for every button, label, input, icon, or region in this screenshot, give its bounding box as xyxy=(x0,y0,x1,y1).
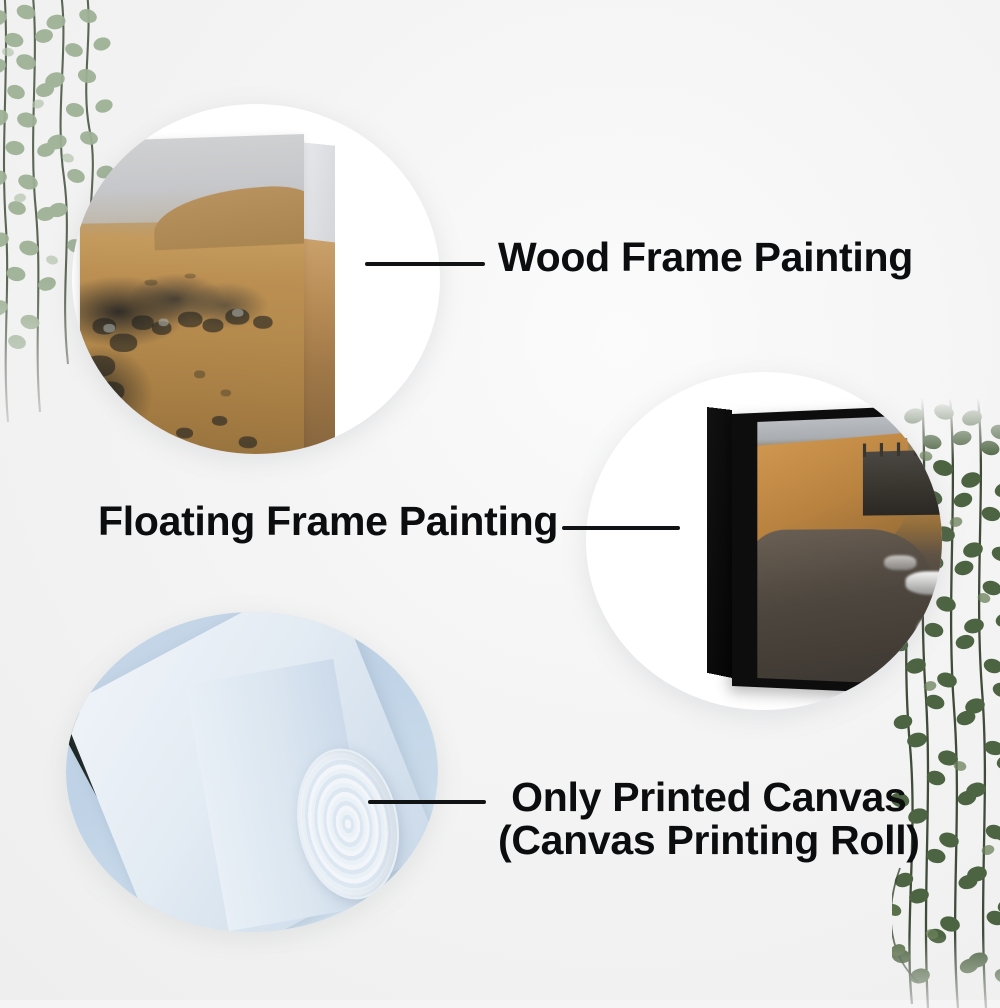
label-printed-canvas-line2: (Canvas Printing Roll) xyxy=(498,819,920,862)
label-floating-frame-painting: Floating Frame Painting xyxy=(98,500,558,543)
label-printed-canvas-line1: Only Printed Canvas xyxy=(511,774,906,820)
floating-frame-canvas-photo xyxy=(586,372,942,710)
connector-line-floating-frame xyxy=(562,526,680,530)
infographic-canvas: Wood Frame Painting Floating Frame Paint… xyxy=(0,0,1000,1000)
connector-line-canvas-roll xyxy=(368,800,486,804)
connector-line-wood-frame xyxy=(365,262,485,266)
canvas-roll-photo xyxy=(66,612,438,932)
label-printed-canvas-roll: Only Printed Canvas (Canvas Printing Rol… xyxy=(498,776,920,863)
callout-circle-wood-frame[interactable] xyxy=(72,104,440,454)
callout-circle-floating-frame[interactable] xyxy=(586,372,942,710)
wood-frame-canvas-photo xyxy=(72,104,440,454)
label-wood-frame-painting: Wood Frame Painting xyxy=(498,236,913,279)
callout-circle-canvas-roll[interactable] xyxy=(66,612,438,932)
